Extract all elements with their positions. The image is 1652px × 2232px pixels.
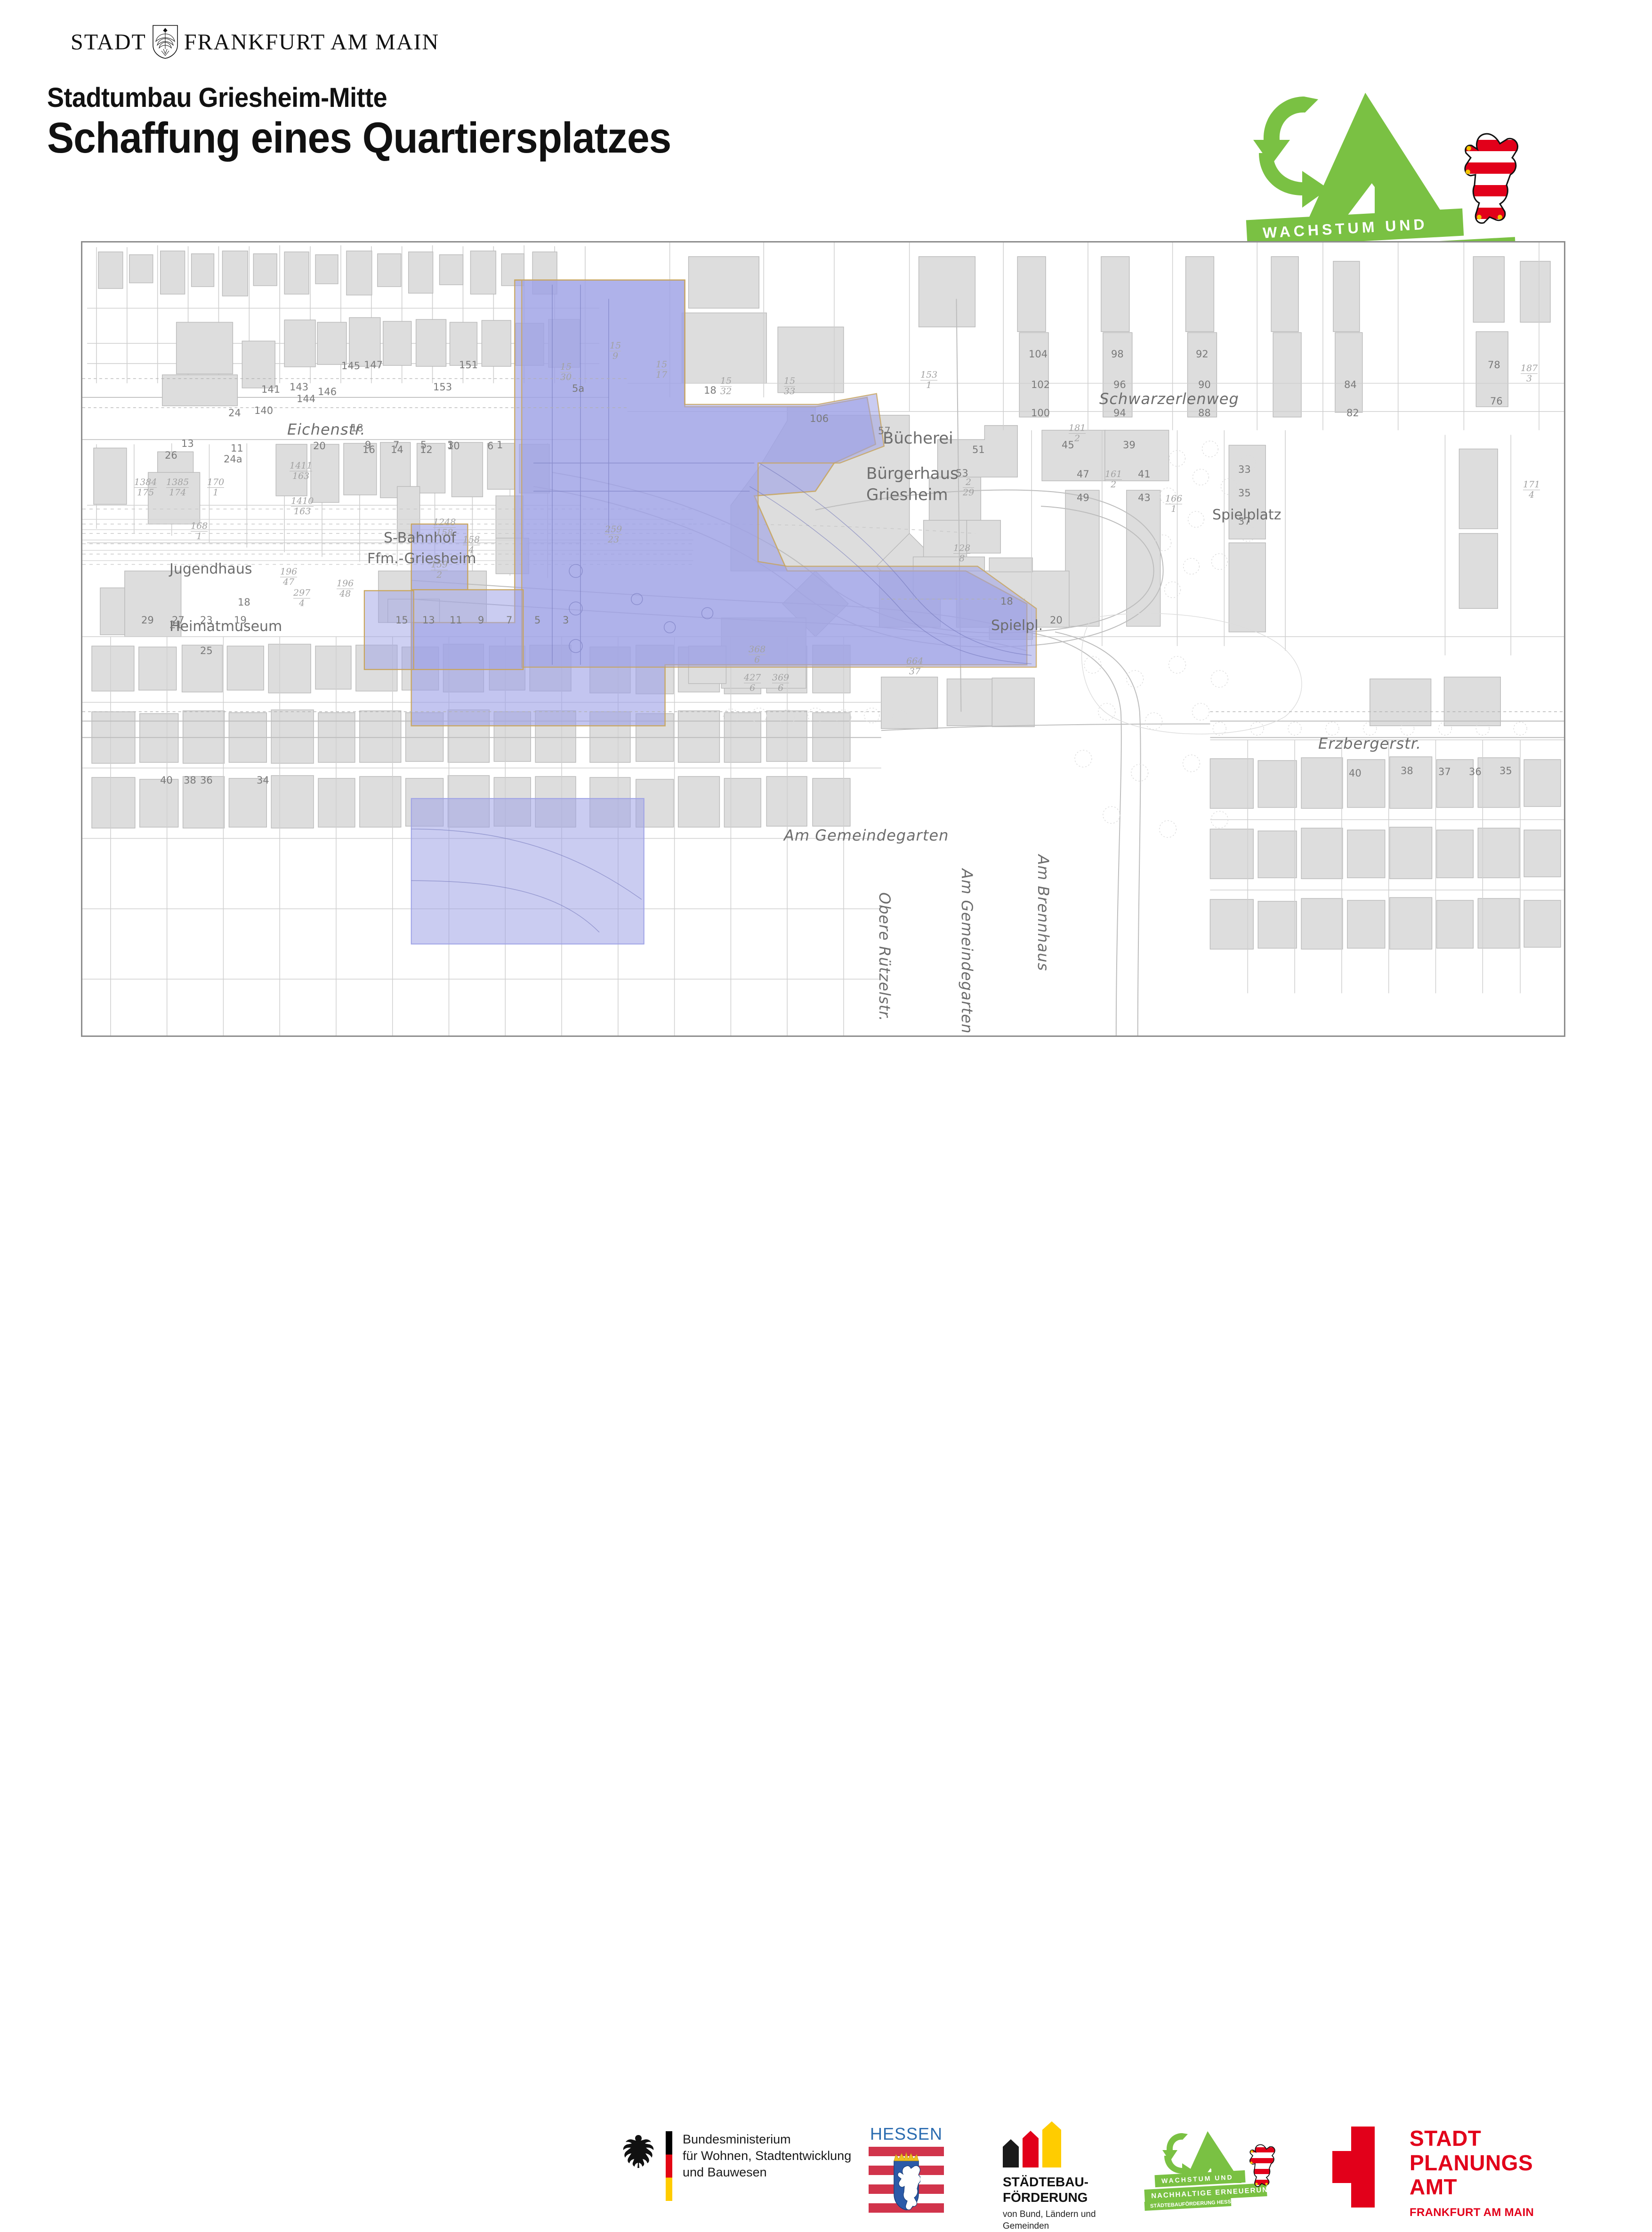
staedtebaufoerderung-logo: STÄDTEBAU- FÖRDERUNG von Bund, Ländern u… <box>1003 2124 1125 2232</box>
bmwsb-name: Bundesministerium für Wohnen, Stadtentwi… <box>683 2131 851 2181</box>
stadtplanungsamt-mark-icon <box>1323 2127 1394 2208</box>
staedtebau-title-line2: FÖRDERUNG <box>1003 2190 1125 2205</box>
stadtplanungsamt-line2: PLANUNGS <box>1410 2151 1534 2175</box>
city-logo-word-left: STADT <box>71 29 146 55</box>
stadtplanungsamt-subline: FRANKFURT AM MAIN <box>1410 2206 1534 2219</box>
hessen-logo: HESSEN <box>869 2124 944 2214</box>
hessen-lion-small-icon <box>1245 2143 1278 2189</box>
staedtebau-sub-line1: von Bund, Ländern und <box>1003 2209 1125 2221</box>
house-bar-red-icon <box>1023 2131 1039 2167</box>
staedtebau-title-line1: STÄDTEBAU- <box>1003 2174 1125 2190</box>
bundesadler-icon <box>621 2133 655 2172</box>
footer-logo-bar: Bundesministerium für Wohnen, Stadtentwi… <box>0 1059 1652 1168</box>
city-logo-word-right: FRANKFURT AM MAIN <box>184 29 439 55</box>
project-subtitle: Stadtumbau Griesheim-Mitte <box>47 84 671 113</box>
bmwsb-line-2: für Wohnen, Stadtentwicklung <box>683 2148 851 2164</box>
bmwsb-line-3: und Bauwesen <box>683 2164 851 2181</box>
bmwsb-line-1: Bundesministerium <box>683 2131 851 2148</box>
staedtebau-title: STÄDTEBAU- FÖRDERUNG <box>1003 2174 1125 2205</box>
staedtebau-sub-line2: Gemeinden <box>1003 2221 1125 2232</box>
city-logo: STADT FRANKFURT AM MAIN <box>71 24 439 59</box>
staedtebau-house-bars <box>1003 2124 1125 2167</box>
stadtplanungsamt-line1: STADT <box>1410 2127 1534 2151</box>
staedtebau-subtitle: von Bund, Ländern und Gemeinden <box>1003 2209 1125 2232</box>
frankfurt-eagle-crest-icon <box>152 24 178 59</box>
hessen-flag <box>869 2147 944 2214</box>
stadtplanungsamt-logo: STADT PLANUNGS AMT FRANKFURT AM MAIN <box>1323 2127 1534 2219</box>
cadastral-map[interactable]: Eichenstr. Schwarzerlenweg Erzbergerstr.… <box>81 241 1565 1037</box>
house-bar-black-icon <box>1003 2139 1019 2167</box>
title-block: Stadtumbau Griesheim-Mitte Schaffung ein… <box>47 84 718 161</box>
wachstum-small-logo: WACHSTUM UND NACHHALTIGE ERNEUERUNG STÄD… <box>1151 2127 1292 2212</box>
house-bar-yellow-icon <box>1042 2121 1061 2167</box>
stadtplanungsamt-line3: AMT <box>1410 2175 1534 2200</box>
hessen-lion-icon <box>1455 129 1525 228</box>
germany-flag-bar <box>666 2131 672 2201</box>
hessen-wordmark: HESSEN <box>869 2124 944 2144</box>
bmwsb-logo: Bundesministerium für Wohnen, Stadtentwi… <box>621 2131 851 2201</box>
hessen-crest-icon <box>892 2151 920 2211</box>
map-canvas <box>82 243 1564 1035</box>
page-title: Schaffung eines Quartiersplatzes <box>47 115 671 161</box>
stadtplanungsamt-wordmark: STADT PLANUNGS AMT FRANKFURT AM MAIN <box>1410 2127 1534 2219</box>
